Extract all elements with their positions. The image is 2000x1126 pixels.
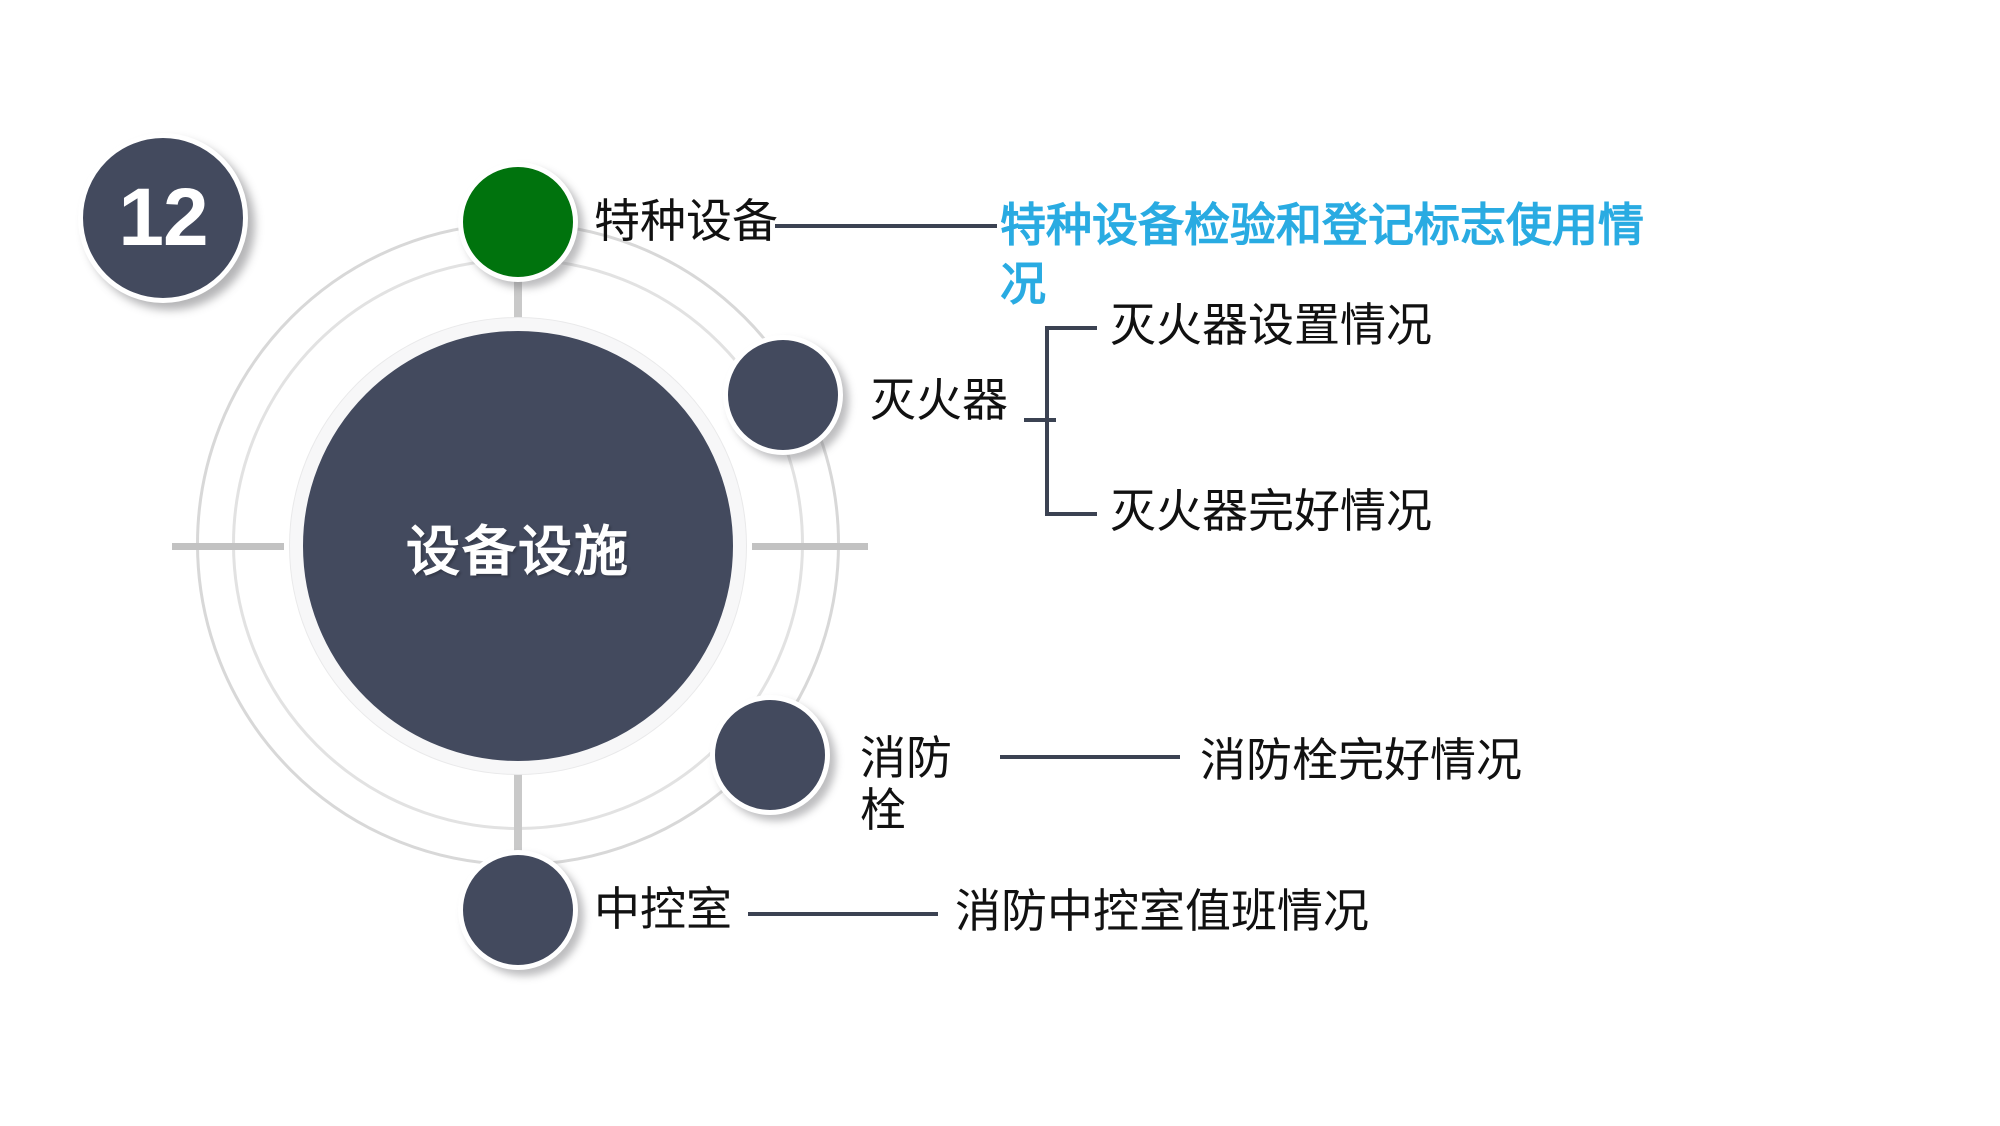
bracket-stub-bottom-fire-extinguisher	[1045, 512, 1097, 516]
node-fire-extinguisher[interactable]	[723, 335, 843, 455]
detail-fire-extinguisher-condition: 灭火器完好情况	[1110, 484, 1432, 539]
branch-label-special-equipment: 特种设备	[594, 196, 778, 248]
slide-number-badge: 12	[78, 133, 248, 303]
crosshair-arm-right	[752, 543, 868, 550]
node-control-room[interactable]	[458, 850, 578, 970]
detail-fire-extinguisher-placement: 灭火器设置情况	[1110, 298, 1432, 353]
branch-label-control-room: 中控室	[594, 884, 732, 936]
node-special-equipment[interactable]	[458, 162, 578, 282]
crosshair-arm-left	[172, 543, 284, 550]
branch-label-fire-hydrant: 消防栓	[860, 733, 980, 836]
connector-line-fire-hydrant	[1000, 755, 1180, 759]
branch-label-fire-extinguisher: 灭火器	[870, 375, 1008, 427]
hub-circle[interactable]: 设备设施	[290, 318, 746, 774]
node-fire-hydrant[interactable]	[710, 695, 830, 815]
slide-canvas: 12 设备设施 特种设备 特种设备检验和登记标志使用情况 灭火器 灭火器设置情况…	[0, 0, 2000, 1126]
detail-special-equipment-inspection: 特种设备检验和登记标志使用情况	[1000, 196, 1660, 314]
connector-line-fire-extinguisher	[1024, 418, 1056, 422]
connector-line-control-room	[748, 912, 938, 916]
slide-number-text: 12	[118, 177, 207, 259]
bracket-vertical-fire-extinguisher	[1045, 326, 1049, 516]
connector-line-special-equipment	[775, 224, 997, 228]
hub-label: 设备设施	[406, 507, 630, 586]
bracket-stub-top-fire-extinguisher	[1045, 326, 1097, 330]
detail-control-room-duty: 消防中控室值班情况	[955, 884, 1369, 939]
detail-fire-hydrant-condition: 消防栓完好情况	[1200, 733, 1522, 788]
